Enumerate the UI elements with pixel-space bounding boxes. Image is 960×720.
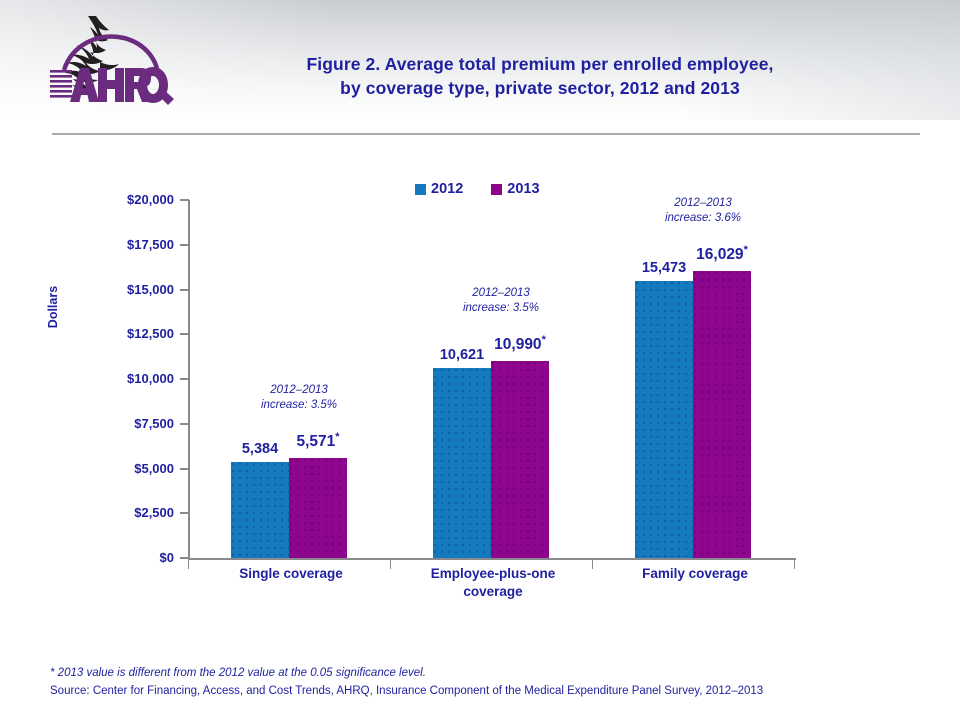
annotation-line-1: 2012–2013 xyxy=(261,383,337,398)
y-tick-label: $17,500 xyxy=(74,238,174,251)
value-label-2012-family-coverage: 15,473 xyxy=(642,261,686,276)
x-axis-separator xyxy=(188,558,189,569)
y-tick-mark xyxy=(180,423,189,425)
footnote-significance: * 2013 value is different from the 2012 … xyxy=(50,664,920,682)
y-tick-label: $5,000 xyxy=(74,462,174,475)
y-tick-label: $0 xyxy=(74,551,174,564)
bar-chart: Dollars $20,000$17,500$15,000$12,500$10,… xyxy=(0,0,960,720)
legend-swatch-2012 xyxy=(415,184,426,195)
y-tick-label: $2,500 xyxy=(74,506,174,519)
y-tick-label: $12,500 xyxy=(74,327,174,340)
y-tick-mark xyxy=(180,512,189,514)
x-axis-label-family: Family coverage xyxy=(594,565,796,583)
x-axis-label-employee-plus-one: Employee-plus-one coverage xyxy=(392,565,594,601)
y-tick-label: $20,000 xyxy=(74,193,174,206)
annotation-line-2: increase: 3.5% xyxy=(261,398,337,413)
significance-marker: * xyxy=(335,431,339,443)
y-axis-title: Dollars xyxy=(46,272,60,342)
annotation-line-1: 2012–2013 xyxy=(665,196,741,211)
cat-single-line1: Single coverage xyxy=(239,566,343,581)
legend-item-2013[interactable]: 2013 xyxy=(491,182,539,196)
chart-legend: 2012 2013 xyxy=(415,182,540,196)
significance-marker: * xyxy=(744,244,748,256)
y-tick-label: $15,000 xyxy=(74,283,174,296)
bar-2012-family-coverage[interactable] xyxy=(635,281,693,558)
legend-label-2013: 2013 xyxy=(507,182,539,196)
x-axis-line xyxy=(188,558,796,560)
bar-2013-employee-plus-one-coverage[interactable] xyxy=(491,361,549,558)
significance-marker: * xyxy=(542,334,546,346)
cat-eplus-line2: coverage xyxy=(392,583,594,601)
y-tick-mark xyxy=(180,199,189,201)
legend-item-2012[interactable]: 2012 xyxy=(415,182,463,196)
cat-family-line1: Family coverage xyxy=(642,566,748,581)
y-tick-label: $7,500 xyxy=(74,417,174,430)
y-tick-mark xyxy=(180,244,189,246)
y-tick-mark xyxy=(180,289,189,291)
y-tick-mark xyxy=(180,333,189,335)
value-label-2013-family-coverage: 16,029* xyxy=(696,247,748,262)
cat-eplus-line1: Employee-plus-one xyxy=(392,565,594,583)
bar-2013-family-coverage[interactable] xyxy=(693,271,751,558)
legend-label-2012: 2012 xyxy=(431,182,463,196)
value-label-2012-single-coverage: 5,384 xyxy=(242,442,278,457)
bar-2012-single-coverage[interactable] xyxy=(231,462,289,558)
footnotes: * 2013 value is different from the 2012 … xyxy=(50,664,920,700)
value-label-2013-single-coverage: 5,571* xyxy=(296,434,339,449)
annotation-line-2: increase: 3.5% xyxy=(463,301,539,316)
increase-annotation-single-coverage: 2012–2013increase: 3.5% xyxy=(261,383,337,413)
y-tick-mark xyxy=(180,468,189,470)
bar-2013-single-coverage[interactable] xyxy=(289,458,347,558)
y-tick-label: $10,000 xyxy=(74,372,174,385)
increase-annotation-employee-plus-one-coverage: 2012–2013increase: 3.5% xyxy=(463,286,539,316)
x-axis-label-single: Single coverage xyxy=(190,565,392,583)
footnote-source: Source: Center for Financing, Access, an… xyxy=(50,682,920,700)
value-label-2012-employee-plus-one-coverage: 10,621 xyxy=(440,348,484,363)
annotation-line-2: increase: 3.6% xyxy=(665,211,741,226)
increase-annotation-family-coverage: 2012–2013increase: 3.6% xyxy=(665,196,741,226)
bar-2012-employee-plus-one-coverage[interactable] xyxy=(433,368,491,558)
value-label-2013-employee-plus-one-coverage: 10,990* xyxy=(494,337,546,352)
annotation-line-1: 2012–2013 xyxy=(463,286,539,301)
legend-swatch-2013 xyxy=(491,184,502,195)
y-tick-mark xyxy=(180,378,189,380)
